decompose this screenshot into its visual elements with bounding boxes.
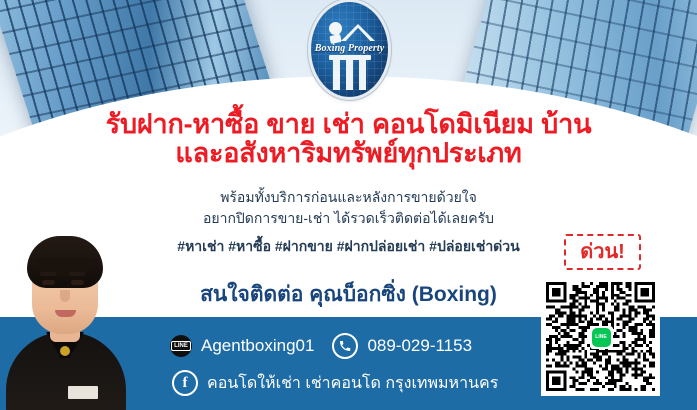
agent-eye-right [71,280,84,285]
contact-row-facebook: f คอนโดให้เช่า เช่าคอนโด กรุงเทพมหานคร [172,370,498,396]
subtitle-line-2: อยากปิดการขาย-เช่า ได้รวดเร็วติดต่อได้เล… [0,208,697,229]
qr-code-matrix: LINE [546,282,655,391]
agent-eye-left [42,280,55,285]
page-title: รับฝาก-หาซื้อ ขาย เช่า คอนโดมิเนียม บ้าน… [0,110,697,168]
agent-button [60,346,70,356]
headline-line-1: รับฝาก-หาซื้อ ขาย เช่า คอนโดมิเนียม บ้าน [106,109,592,139]
agent-name-badge [68,386,98,399]
urgent-badge-label: ด่วน! [580,242,625,262]
line-app-icon: LINE [592,328,611,347]
line-id-value: Agentboxing01 [201,336,314,356]
agent-hair [27,236,103,288]
brand-logo: Boxing Property [311,2,388,97]
agent-eyebrow-right [69,272,85,276]
qr-center-badge: LINE [590,326,613,349]
line-app-icon[interactable]: LINE [170,335,192,357]
contact-row-line-phone: LINE Agentboxing01 089-029-1153 [170,333,472,359]
facebook-page-value: คอนโดให้เช่า เช่าคอนโด กรุงเทพมหานคร [207,371,498,396]
qr-code[interactable]: LINE [541,277,660,396]
agent-portrait [2,228,130,410]
subtitle-line-1: พร้อมทั้งบริการก่อนและหลังการขายด้วยใจ [0,187,697,208]
logo-text: Boxing Property [311,43,388,54]
agent-eyebrow-left [40,272,56,276]
logo-pillars-icon [333,60,367,90]
urgent-badge: ด่วน! [564,234,641,270]
phone-number-value: 089-029-1153 [367,336,472,356]
headline-line-2: และอสังหาริมทรัพย์ทุกประเภท [0,139,697,168]
subtitle-text: พร้อมทั้งบริการก่อนและหลังการขายด้วยใจ อ… [0,187,697,229]
phone-icon[interactable] [332,333,358,359]
logo-person-head-icon [329,22,342,35]
facebook-icon[interactable]: f [172,370,198,396]
property-advertisement-poster: Boxing Property รับฝาก-หาซื้อ ขาย เช่า ค… [0,0,697,410]
agent-nose [60,290,70,302]
